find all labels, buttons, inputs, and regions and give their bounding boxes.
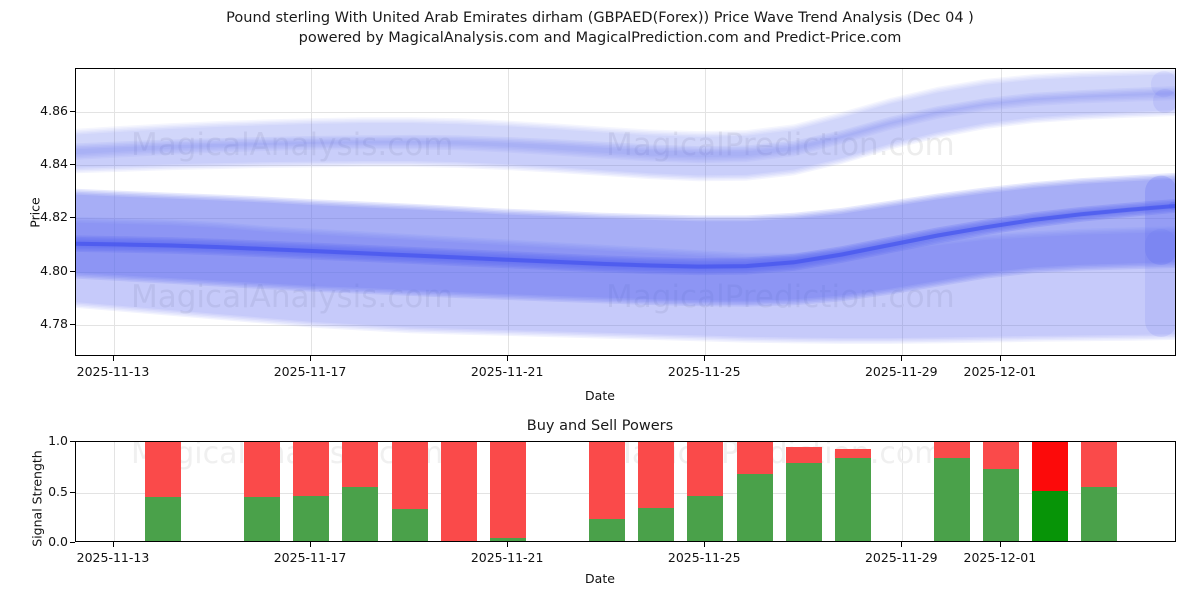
power-x-tick: 2025-11-13 <box>77 550 150 565</box>
power-bar[interactable] <box>1081 441 1117 541</box>
power-x-tick: 2025-11-21 <box>471 550 544 565</box>
power-x-tick: 2025-11-29 <box>865 550 938 565</box>
power-x-tick: 2025-11-17 <box>274 550 347 565</box>
power-bar[interactable] <box>392 441 428 541</box>
sell-power-segment <box>490 441 526 538</box>
power-chart-title: Buy and Sell Powers <box>0 418 1200 434</box>
power-bar[interactable] <box>983 441 1019 541</box>
sell-power-segment <box>441 441 477 541</box>
price-x-tickmark <box>704 356 705 361</box>
sell-power-segment <box>835 449 871 458</box>
power-y-tick: 0.0 <box>0 534 68 549</box>
page-subtitle: powered by MagicalAnalysis.com and Magic… <box>0 28 1200 48</box>
buy-power-segment <box>244 497 280 541</box>
power-x-axis-label: Date <box>0 571 1200 586</box>
price-x-tickmark <box>901 356 902 361</box>
power-gridline-v <box>902 442 903 541</box>
power-bar[interactable] <box>342 441 378 541</box>
power-x-tickmark <box>704 542 705 547</box>
price-x-tickmark <box>1000 356 1001 361</box>
price-y-tickmark <box>70 111 75 112</box>
power-y-tick: 1.0 <box>0 433 68 448</box>
buy-power-segment <box>835 458 871 541</box>
page-title: Pound sterling With United Arab Emirates… <box>0 8 1200 28</box>
price-y-tick: 4.80 <box>0 263 68 278</box>
power-bar[interactable] <box>737 441 773 541</box>
price-y-tickmark <box>70 324 75 325</box>
power-x-tickmark <box>901 542 902 547</box>
buy-power-segment <box>1081 487 1117 541</box>
buy-power-segment <box>983 469 1019 541</box>
power-bar[interactable] <box>638 441 674 541</box>
price-y-tick: 4.78 <box>0 316 68 331</box>
power-x-tick: 2025-11-25 <box>668 550 741 565</box>
sell-power-segment <box>342 441 378 487</box>
power-bar[interactable] <box>490 441 526 541</box>
price-y-tick: 4.84 <box>0 156 68 171</box>
price-wave-chart: MagicalAnalysis.com MagicalPrediction.co… <box>75 68 1176 356</box>
buy-power-segment <box>737 474 773 541</box>
power-x-tickmark <box>507 542 508 547</box>
power-x-tickmark <box>1000 542 1001 547</box>
buy-sell-powers-chart: MagicalAnalysis.com MagicalPrediction.co… <box>75 441 1176 542</box>
price-x-tickmark <box>310 356 311 361</box>
sell-power-segment <box>638 441 674 508</box>
buy-power-segment <box>490 538 526 541</box>
price-x-tick: 2025-11-29 <box>865 364 938 379</box>
power-x-tick: 2025-12-01 <box>964 550 1037 565</box>
power-bar[interactable] <box>1032 441 1068 541</box>
buy-power-segment <box>1032 491 1068 542</box>
power-x-tickmark <box>113 542 114 547</box>
power-bar[interactable] <box>589 441 625 541</box>
sell-power-segment <box>1081 441 1117 487</box>
power-bar[interactable] <box>244 441 280 541</box>
sell-power-segment <box>145 441 181 497</box>
price-wave-bands <box>76 69 1176 356</box>
sell-power-segment <box>737 441 773 474</box>
sell-power-segment <box>1032 441 1068 491</box>
power-y-tick: 0.5 <box>0 484 68 499</box>
price-x-tickmark <box>507 356 508 361</box>
power-y-tickmark <box>70 542 75 543</box>
buy-power-segment <box>786 463 822 541</box>
sell-power-segment <box>392 441 428 509</box>
price-x-tickmark <box>113 356 114 361</box>
price-y-tick: 4.86 <box>0 103 68 118</box>
power-gridline-v <box>114 442 115 541</box>
buy-power-segment <box>145 497 181 541</box>
price-x-tick: 2025-11-17 <box>274 364 347 379</box>
buy-power-segment <box>687 496 723 541</box>
sell-power-segment <box>983 441 1019 469</box>
sell-power-segment <box>244 441 280 497</box>
power-bar[interactable] <box>293 441 329 541</box>
price-x-tick: 2025-11-21 <box>471 364 544 379</box>
power-bar[interactable] <box>441 441 477 541</box>
price-y-tickmark <box>70 217 75 218</box>
power-y-tickmark <box>70 441 75 442</box>
price-y-tick: 4.82 <box>0 209 68 224</box>
sell-power-segment <box>786 447 822 463</box>
power-y-tickmark <box>70 492 75 493</box>
price-x-tick: 2025-11-13 <box>77 364 150 379</box>
price-y-tickmark <box>70 271 75 272</box>
wave-band-cap <box>1151 71 1176 97</box>
buy-power-segment <box>392 509 428 541</box>
power-bar[interactable] <box>835 441 871 541</box>
price-x-axis-label: Date <box>0 388 1200 403</box>
sell-power-segment <box>934 441 970 458</box>
wave-band-cap <box>1145 176 1176 265</box>
sell-power-segment <box>687 441 723 496</box>
chart-title-block: Pound sterling With United Arab Emirates… <box>0 8 1200 48</box>
power-bar[interactable] <box>145 441 181 541</box>
power-bar[interactable] <box>687 441 723 541</box>
price-x-tick: 2025-11-25 <box>668 364 741 379</box>
buy-power-segment <box>293 496 329 541</box>
sell-power-segment <box>589 441 625 519</box>
power-bar[interactable] <box>786 441 822 541</box>
power-x-tickmark <box>310 542 311 547</box>
buy-power-segment <box>638 508 674 541</box>
buy-power-segment <box>342 487 378 541</box>
buy-power-segment <box>589 519 625 541</box>
price-y-tickmark <box>70 164 75 165</box>
sell-power-segment <box>293 441 329 496</box>
power-bar[interactable] <box>934 441 970 541</box>
price-x-tick: 2025-12-01 <box>964 364 1037 379</box>
buy-power-segment <box>934 458 970 541</box>
